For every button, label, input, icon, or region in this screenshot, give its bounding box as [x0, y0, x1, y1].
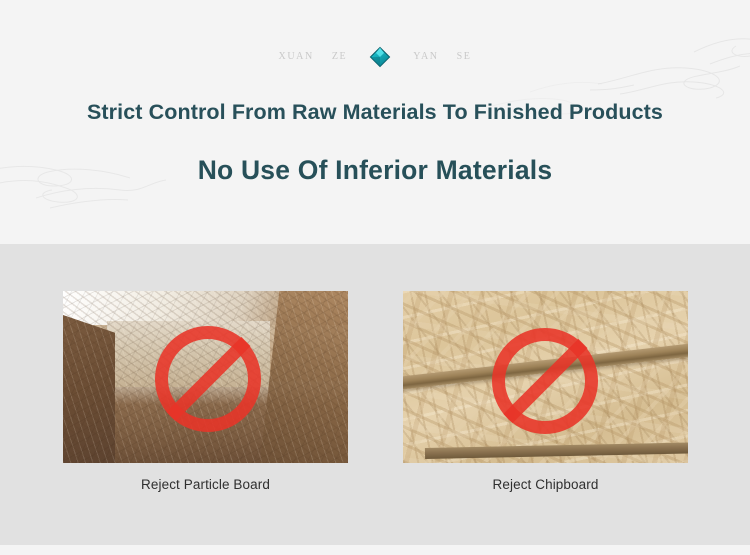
- brand-word-xuan: XUAN: [279, 52, 314, 62]
- promo-page: XUAN ZE YAN SE Strict Control From Raw M…: [0, 0, 750, 555]
- brand-lockup: XUAN ZE YAN SE: [0, 44, 750, 70]
- brand-word-yan: YAN: [413, 52, 438, 62]
- brand-word-se: SE: [457, 52, 472, 62]
- particle-board-photo: [63, 291, 348, 463]
- headline-primary: Strict Control From Raw Materials To Fin…: [0, 100, 750, 126]
- headline-secondary: No Use Of Inferior Materials: [0, 155, 750, 187]
- gallery-item-caption: Reject Particle Board: [63, 477, 348, 492]
- footer-strip: [0, 545, 750, 555]
- gallery-item-particle-board: Reject Particle Board: [63, 291, 348, 463]
- gallery-section: Reject Particle Board Reject Chipboard: [0, 244, 750, 545]
- banner-section: XUAN ZE YAN SE Strict Control From Raw M…: [0, 0, 750, 244]
- diamond-gem-icon: [369, 46, 391, 68]
- chipboard-photo: [403, 291, 688, 463]
- prohibition-sign-icon: [492, 328, 598, 434]
- brand-word-ze: ZE: [332, 52, 347, 62]
- prohibition-sign-icon: [155, 326, 261, 432]
- gallery-item-caption: Reject Chipboard: [403, 477, 688, 492]
- gallery-item-chipboard: Reject Chipboard: [403, 291, 688, 463]
